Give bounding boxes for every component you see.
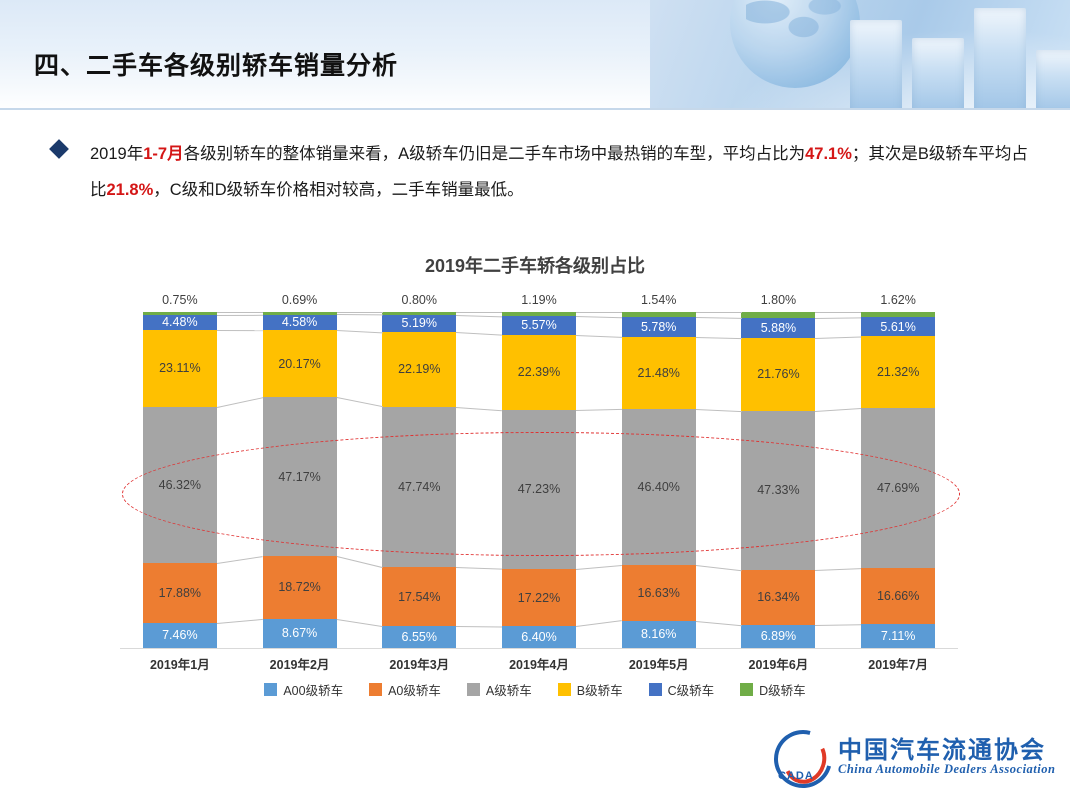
series-connector-line: [696, 409, 742, 412]
bar-segment-label: 5.88%: [761, 321, 796, 335]
series-connector-line: [815, 408, 861, 412]
series-connector-line: [815, 317, 861, 319]
bar-segment-label: 8.16%: [641, 627, 676, 641]
decorative-bar-1: [850, 20, 902, 110]
bar-segment-label: 47.69%: [877, 481, 919, 495]
bar-segment: 17.22%: [502, 569, 576, 627]
bar-segment-label: 46.32%: [159, 478, 201, 492]
legend-item[interactable]: B级轿车: [558, 680, 623, 699]
series-connector-line: [456, 407, 502, 411]
x-axis-label: 2019年2月: [245, 654, 355, 673]
bar-segment: 47.17%: [263, 397, 337, 555]
series-connector-line: [456, 567, 502, 570]
series-connector-line: [336, 556, 382, 568]
bar-segment-label: 17.22%: [518, 591, 560, 605]
bar-segment: 22.39%: [502, 335, 576, 410]
bar-segment-label: 21.48%: [638, 366, 680, 380]
logo-chinese-name: 中国汽车流通协会: [838, 730, 1046, 765]
bar-segment: 21.76%: [741, 338, 815, 411]
bar-segment-label: 47.74%: [398, 480, 440, 494]
bar-segment: 4.48%: [143, 315, 217, 330]
bullet-text-part-2: 各级别轿车的整体销量来看，A级轿车仍旧是二手车市场中最热销的车型，平均占比为: [184, 145, 806, 163]
bar-segment: [502, 312, 576, 316]
series-connector-line: [576, 621, 622, 628]
bar-column: 7.11%16.66%47.69%21.32%5.61%: [861, 312, 935, 648]
bar-segment: [263, 312, 337, 315]
bar-segment-label: 6.55%: [402, 630, 437, 644]
bar-segment-label: 18.72%: [278, 580, 320, 594]
bar-segment: 47.23%: [502, 410, 576, 569]
bar-segment: 7.11%: [861, 624, 935, 648]
series-connector-line: [456, 312, 502, 313]
bar-column: 7.46%17.88%46.32%23.11%4.48%: [143, 312, 217, 648]
legend-swatch: [467, 683, 480, 696]
bar-segment: 16.34%: [741, 570, 815, 625]
bar-segment: 8.16%: [622, 621, 696, 648]
bar-segment: 5.19%: [382, 315, 456, 332]
bar-segment-label: 20.17%: [278, 357, 320, 371]
bar-segment: 6.55%: [382, 626, 456, 648]
legend-label: A00级轿车: [283, 680, 343, 699]
bar-segment-label: 47.17%: [278, 470, 320, 484]
series-connector-line: [337, 312, 383, 313]
header-decorative-image: [650, 0, 1070, 110]
bar-segment-label: 23.11%: [159, 361, 200, 375]
bar-top-label: 1.19%: [484, 293, 594, 307]
stacked-bar-chart: 0.75%7.46%17.88%46.32%23.11%4.48%0.69%8.…: [120, 312, 958, 648]
bar-segment-label: 4.48%: [162, 315, 197, 329]
series-connector-line: [815, 568, 861, 571]
bar-segment: 17.54%: [382, 567, 456, 626]
bullet-highlight-b-share: 21.8%: [107, 181, 154, 199]
bar-segment: [622, 312, 696, 317]
bar-segment: 6.89%: [741, 625, 815, 648]
legend-swatch: [369, 683, 382, 696]
bar-top-label: 1.62%: [843, 293, 953, 307]
bar-segment: [143, 312, 217, 315]
bar-segment-label: 6.40%: [521, 630, 556, 644]
legend-item[interactable]: A级轿车: [467, 680, 532, 699]
logo-english-name: China Automobile Dealers Association: [838, 762, 1055, 777]
legend-label: C级轿车: [668, 680, 715, 699]
bar-segment: 22.19%: [382, 332, 456, 407]
bar-segment-label: 46.40%: [638, 480, 680, 494]
bar-segment-label: 16.63%: [638, 586, 680, 600]
x-axis-labels: 2019年1月2019年2月2019年3月2019年4月2019年5月2019年…: [120, 654, 958, 676]
bar-top-label: 0.69%: [245, 293, 355, 307]
bar-segment: 7.46%: [143, 623, 217, 648]
bar-column: 8.16%16.63%46.40%21.48%5.78%: [622, 312, 696, 648]
legend-swatch: [558, 683, 571, 696]
bar-segment: 46.40%: [622, 409, 696, 565]
bullet-highlight-a-share: 47.1%: [805, 145, 852, 163]
bar-segment: [382, 312, 456, 315]
decorative-bar-4: [1036, 50, 1070, 110]
series-connector-line: [815, 336, 861, 339]
bar-segment-label: 5.61%: [880, 320, 915, 334]
series-connector-line: [337, 314, 383, 315]
cada-logo: CADA 中国汽车流通协会 China Automobile Dealers A…: [772, 726, 1042, 788]
series-connector-line: [576, 565, 622, 570]
series-connector-line: [456, 315, 502, 317]
bar-segment-label: 22.19%: [398, 362, 440, 376]
legend-item[interactable]: A00级轿车: [264, 680, 343, 699]
series-connector-line: [336, 619, 382, 627]
series-connector-line: [217, 619, 263, 624]
series-connector-line: [576, 335, 622, 338]
bar-segment-label: 21.32%: [877, 365, 919, 379]
bar-segment-label: 22.39%: [518, 365, 560, 379]
bar-segment-label: 16.34%: [757, 590, 799, 604]
bar-segment-label: 5.19%: [402, 316, 437, 330]
bar-segment: 20.17%: [263, 330, 337, 398]
bar-column: 6.89%16.34%47.33%21.76%5.88%: [741, 312, 815, 648]
bar-segment: 5.88%: [741, 318, 815, 338]
bar-segment: 6.40%: [502, 626, 576, 648]
bar-segment-label: 21.76%: [757, 367, 799, 381]
legend-swatch: [264, 683, 277, 696]
series-connector-line: [217, 556, 263, 564]
bar-top-label: 0.80%: [364, 293, 474, 307]
bar-segment: 21.48%: [622, 337, 696, 409]
bar-segment: 16.66%: [861, 568, 935, 624]
bar-column: 8.67%18.72%47.17%20.17%4.58%: [263, 312, 337, 648]
bar-segment: 18.72%: [263, 556, 337, 619]
bullet-text-part-1: 2019年: [90, 145, 143, 163]
series-connector-line: [696, 621, 742, 626]
series-connector-line: [217, 397, 263, 408]
legend-label: D级轿车: [759, 680, 806, 699]
bar-segment: [741, 312, 815, 318]
bar-column: 6.55%17.54%47.74%22.19%5.19%: [382, 312, 456, 648]
legend-label: A级轿车: [486, 680, 532, 699]
globe-icon: [730, 0, 860, 88]
bar-segment: 23.11%: [143, 330, 217, 408]
bar-segment-label: 16.66%: [877, 589, 919, 603]
legend-label: A0级轿车: [388, 680, 441, 699]
bullet-diamond-icon: [49, 139, 69, 159]
bar-column: 6.40%17.22%47.23%22.39%5.57%: [502, 312, 576, 648]
series-connector-line: [576, 312, 622, 313]
decorative-bar-2: [912, 38, 964, 110]
bar-segment: 16.63%: [622, 565, 696, 621]
bar-segment: 17.88%: [143, 563, 217, 623]
bar-segment: 5.61%: [861, 317, 935, 336]
bullet-text-part-4: ，C级和D级轿车价格相对较高，二手车销量最低。: [153, 181, 523, 199]
bar-segment-label: 47.33%: [757, 483, 799, 497]
series-connector-line: [815, 312, 861, 313]
x-axis-label: 2019年5月: [604, 654, 714, 673]
bar-segment: 47.33%: [741, 411, 815, 570]
bar-segment: 47.74%: [382, 407, 456, 567]
bar-segment: 21.32%: [861, 336, 935, 408]
logo-acronym: CADA: [778, 770, 814, 782]
bar-segment: 46.32%: [143, 407, 217, 563]
bar-segment-label: 17.54%: [398, 590, 440, 604]
series-connector-line: [217, 312, 263, 313]
x-axis-line: [120, 648, 958, 649]
bar-segment-label: 47.23%: [518, 482, 560, 496]
bar-segment-label: 7.11%: [881, 629, 916, 643]
bar-segment-label: 5.78%: [641, 320, 676, 334]
bullet-text: 2019年1-7月各级别轿车的整体销量来看，A级轿车仍旧是二手车市场中最热销的车…: [90, 136, 1042, 208]
series-connector-line: [576, 409, 622, 411]
chart-title: 2019年二手车轿各级别占比: [0, 252, 1070, 278]
bar-segment: 5.78%: [622, 317, 696, 336]
bar-top-label: 0.75%: [125, 293, 235, 307]
bar-top-label: 1.54%: [604, 293, 714, 307]
legend-label: B级轿车: [577, 680, 623, 699]
bar-segment-label: 7.46%: [162, 628, 197, 642]
bar-segment-label: 4.58%: [282, 315, 317, 329]
bullet-highlight-period: 1-7月: [143, 145, 183, 163]
legend-swatch: [649, 683, 662, 696]
x-axis-label: 2019年4月: [484, 654, 594, 673]
bar-segment-label: 8.67%: [282, 626, 317, 640]
page-title: 四、二手车各级别轿车销量分析: [34, 46, 398, 82]
series-connector-line: [696, 337, 742, 339]
legend-item[interactable]: C级轿车: [649, 680, 715, 699]
x-axis-label: 2019年6月: [723, 654, 833, 673]
bar-segment: 5.57%: [502, 316, 576, 335]
x-axis-label: 2019年7月: [843, 654, 953, 673]
bar-segment-label: 17.88%: [159, 586, 201, 600]
decorative-bar-3: [974, 8, 1026, 110]
x-axis-label: 2019年1月: [125, 654, 235, 673]
chart-legend: A00级轿车A0级轿车A级轿车B级轿车C级轿车D级轿车: [0, 680, 1070, 699]
bar-segment: [861, 312, 935, 317]
series-connector-line: [696, 565, 742, 571]
bar-segment-label: 5.57%: [521, 318, 556, 332]
series-connector-line: [696, 312, 742, 313]
series-connector-line: [696, 317, 742, 319]
series-connector-line: [815, 624, 861, 626]
bullet-paragraph: 2019年1-7月各级别轿车的整体销量来看，A级轿车仍旧是二手车市场中最热销的车…: [52, 136, 1042, 208]
series-connector-line: [576, 316, 622, 318]
series-connector-line: [456, 626, 502, 628]
series-connector-line: [217, 330, 263, 331]
series-connector-line: [337, 330, 383, 333]
legend-item[interactable]: A0级轿车: [369, 680, 441, 699]
series-connector-line: [456, 332, 502, 336]
bar-segment: 4.58%: [263, 314, 337, 329]
bar-segment: 47.69%: [861, 408, 935, 568]
legend-swatch: [740, 683, 753, 696]
bar-top-label: 1.80%: [723, 293, 833, 307]
bar-segment-label: 6.89%: [761, 629, 796, 643]
header-divider: [0, 108, 1070, 110]
bar-segment: 8.67%: [263, 619, 337, 648]
series-connector-line: [217, 314, 263, 315]
series-connector-line: [336, 397, 382, 407]
x-axis-label: 2019年3月: [364, 654, 474, 673]
legend-item[interactable]: D级轿车: [740, 680, 806, 699]
